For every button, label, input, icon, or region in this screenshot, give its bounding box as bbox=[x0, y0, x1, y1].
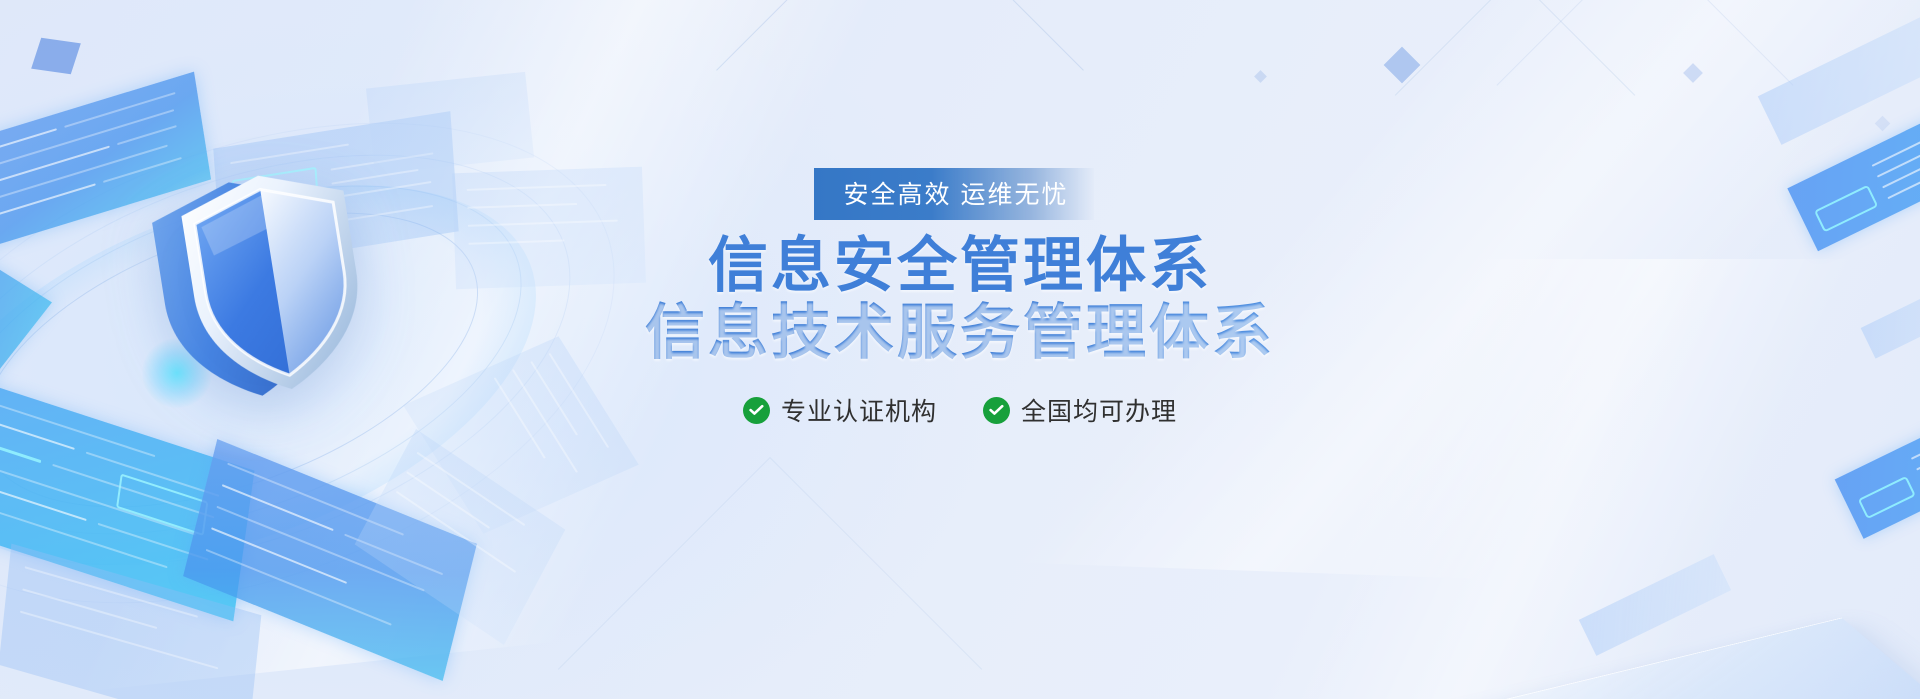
headline-line-1: 信息安全管理体系 bbox=[708, 232, 1212, 299]
check-circle-icon bbox=[743, 397, 770, 424]
check-circle-icon bbox=[983, 397, 1010, 424]
feature-list: 专业认证机构 全国均可办理 bbox=[743, 392, 1177, 428]
banner-eyebrow-badge: 安全高效 运维无忧 bbox=[814, 168, 1095, 220]
headline-line-2: 信息技术服务管理体系 bbox=[645, 299, 1275, 366]
feature-item-1: 专业认证机构 bbox=[743, 392, 937, 428]
banner-content: 安全高效 运维无忧 信息安全管理体系 信息技术服务管理体系 专业认证机构 bbox=[0, 0, 1920, 699]
feature-label-2: 全国均可办理 bbox=[1021, 392, 1177, 428]
hero-banner: 安全高效 运维无忧 信息安全管理体系 信息技术服务管理体系 专业认证机构 bbox=[0, 0, 1920, 699]
page-title: 信息安全管理体系 信息技术服务管理体系 bbox=[645, 232, 1275, 366]
feature-item-2: 全国均可办理 bbox=[983, 392, 1177, 428]
feature-label-1: 专业认证机构 bbox=[781, 392, 937, 428]
